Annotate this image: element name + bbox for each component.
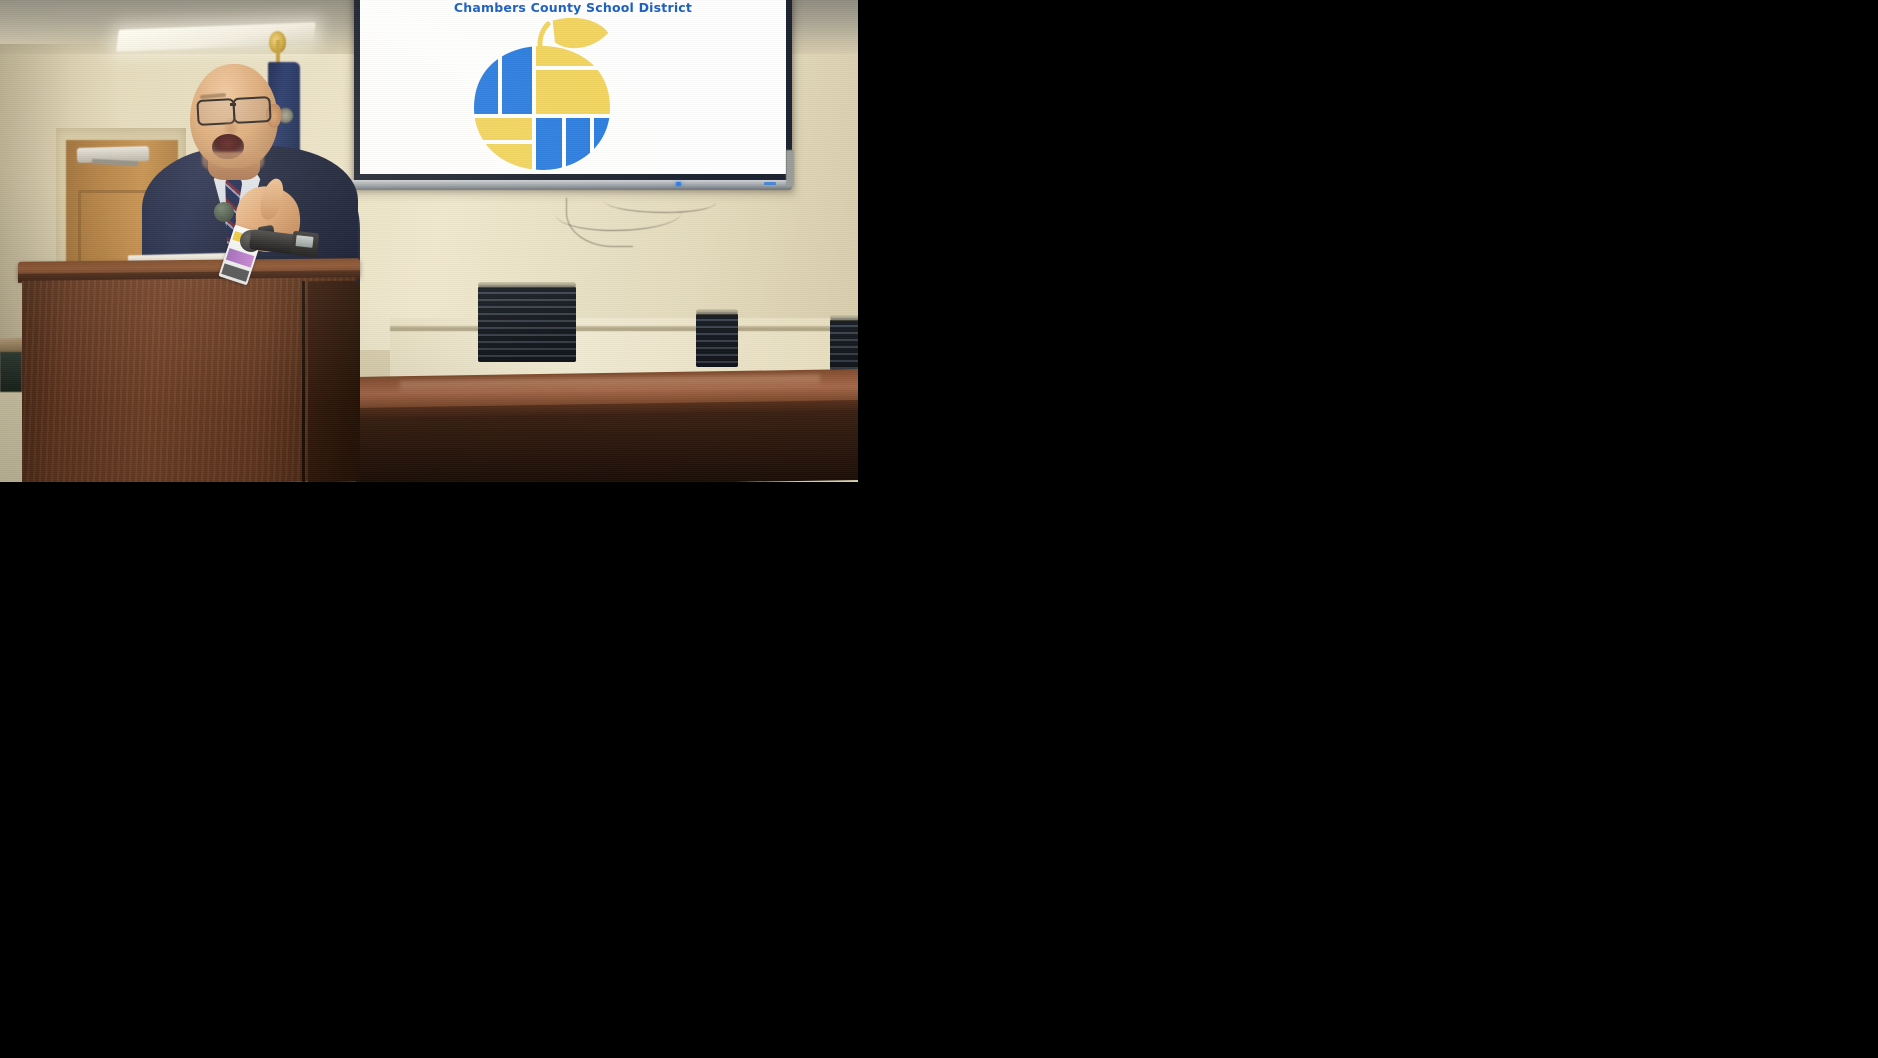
chair-rail-molding	[390, 326, 858, 331]
apple-logo	[458, 12, 626, 172]
chair-slats	[478, 285, 576, 362]
recorder-display	[295, 235, 313, 248]
conference-chair	[696, 312, 738, 367]
podium-corner-seam	[302, 281, 305, 482]
screen-wall-bracket	[786, 150, 794, 186]
screen-tray	[352, 180, 792, 190]
conference-chair	[830, 318, 858, 370]
conference-table-front	[356, 410, 858, 482]
speaker-chin-shadow	[202, 152, 264, 174]
screenshot-canvas: Chambers County School District	[0, 0, 1878, 1058]
projection-screen: Chambers County School District	[360, 0, 786, 174]
eyeglasses-bridge	[230, 103, 236, 106]
news-photograph: Chambers County School District	[0, 0, 858, 482]
chair-slats	[696, 312, 738, 367]
chair-slats	[830, 318, 858, 370]
podium-front-panel	[22, 277, 356, 482]
screen-status-led-icon	[764, 182, 776, 185]
speaker-nose	[222, 117, 240, 134]
conference-chair	[478, 285, 576, 362]
screen-power-led-icon	[676, 182, 681, 186]
wood-grain	[22, 277, 356, 482]
side-table-leg	[0, 352, 22, 392]
held-object	[214, 202, 234, 222]
podium-side-panel	[308, 281, 360, 482]
